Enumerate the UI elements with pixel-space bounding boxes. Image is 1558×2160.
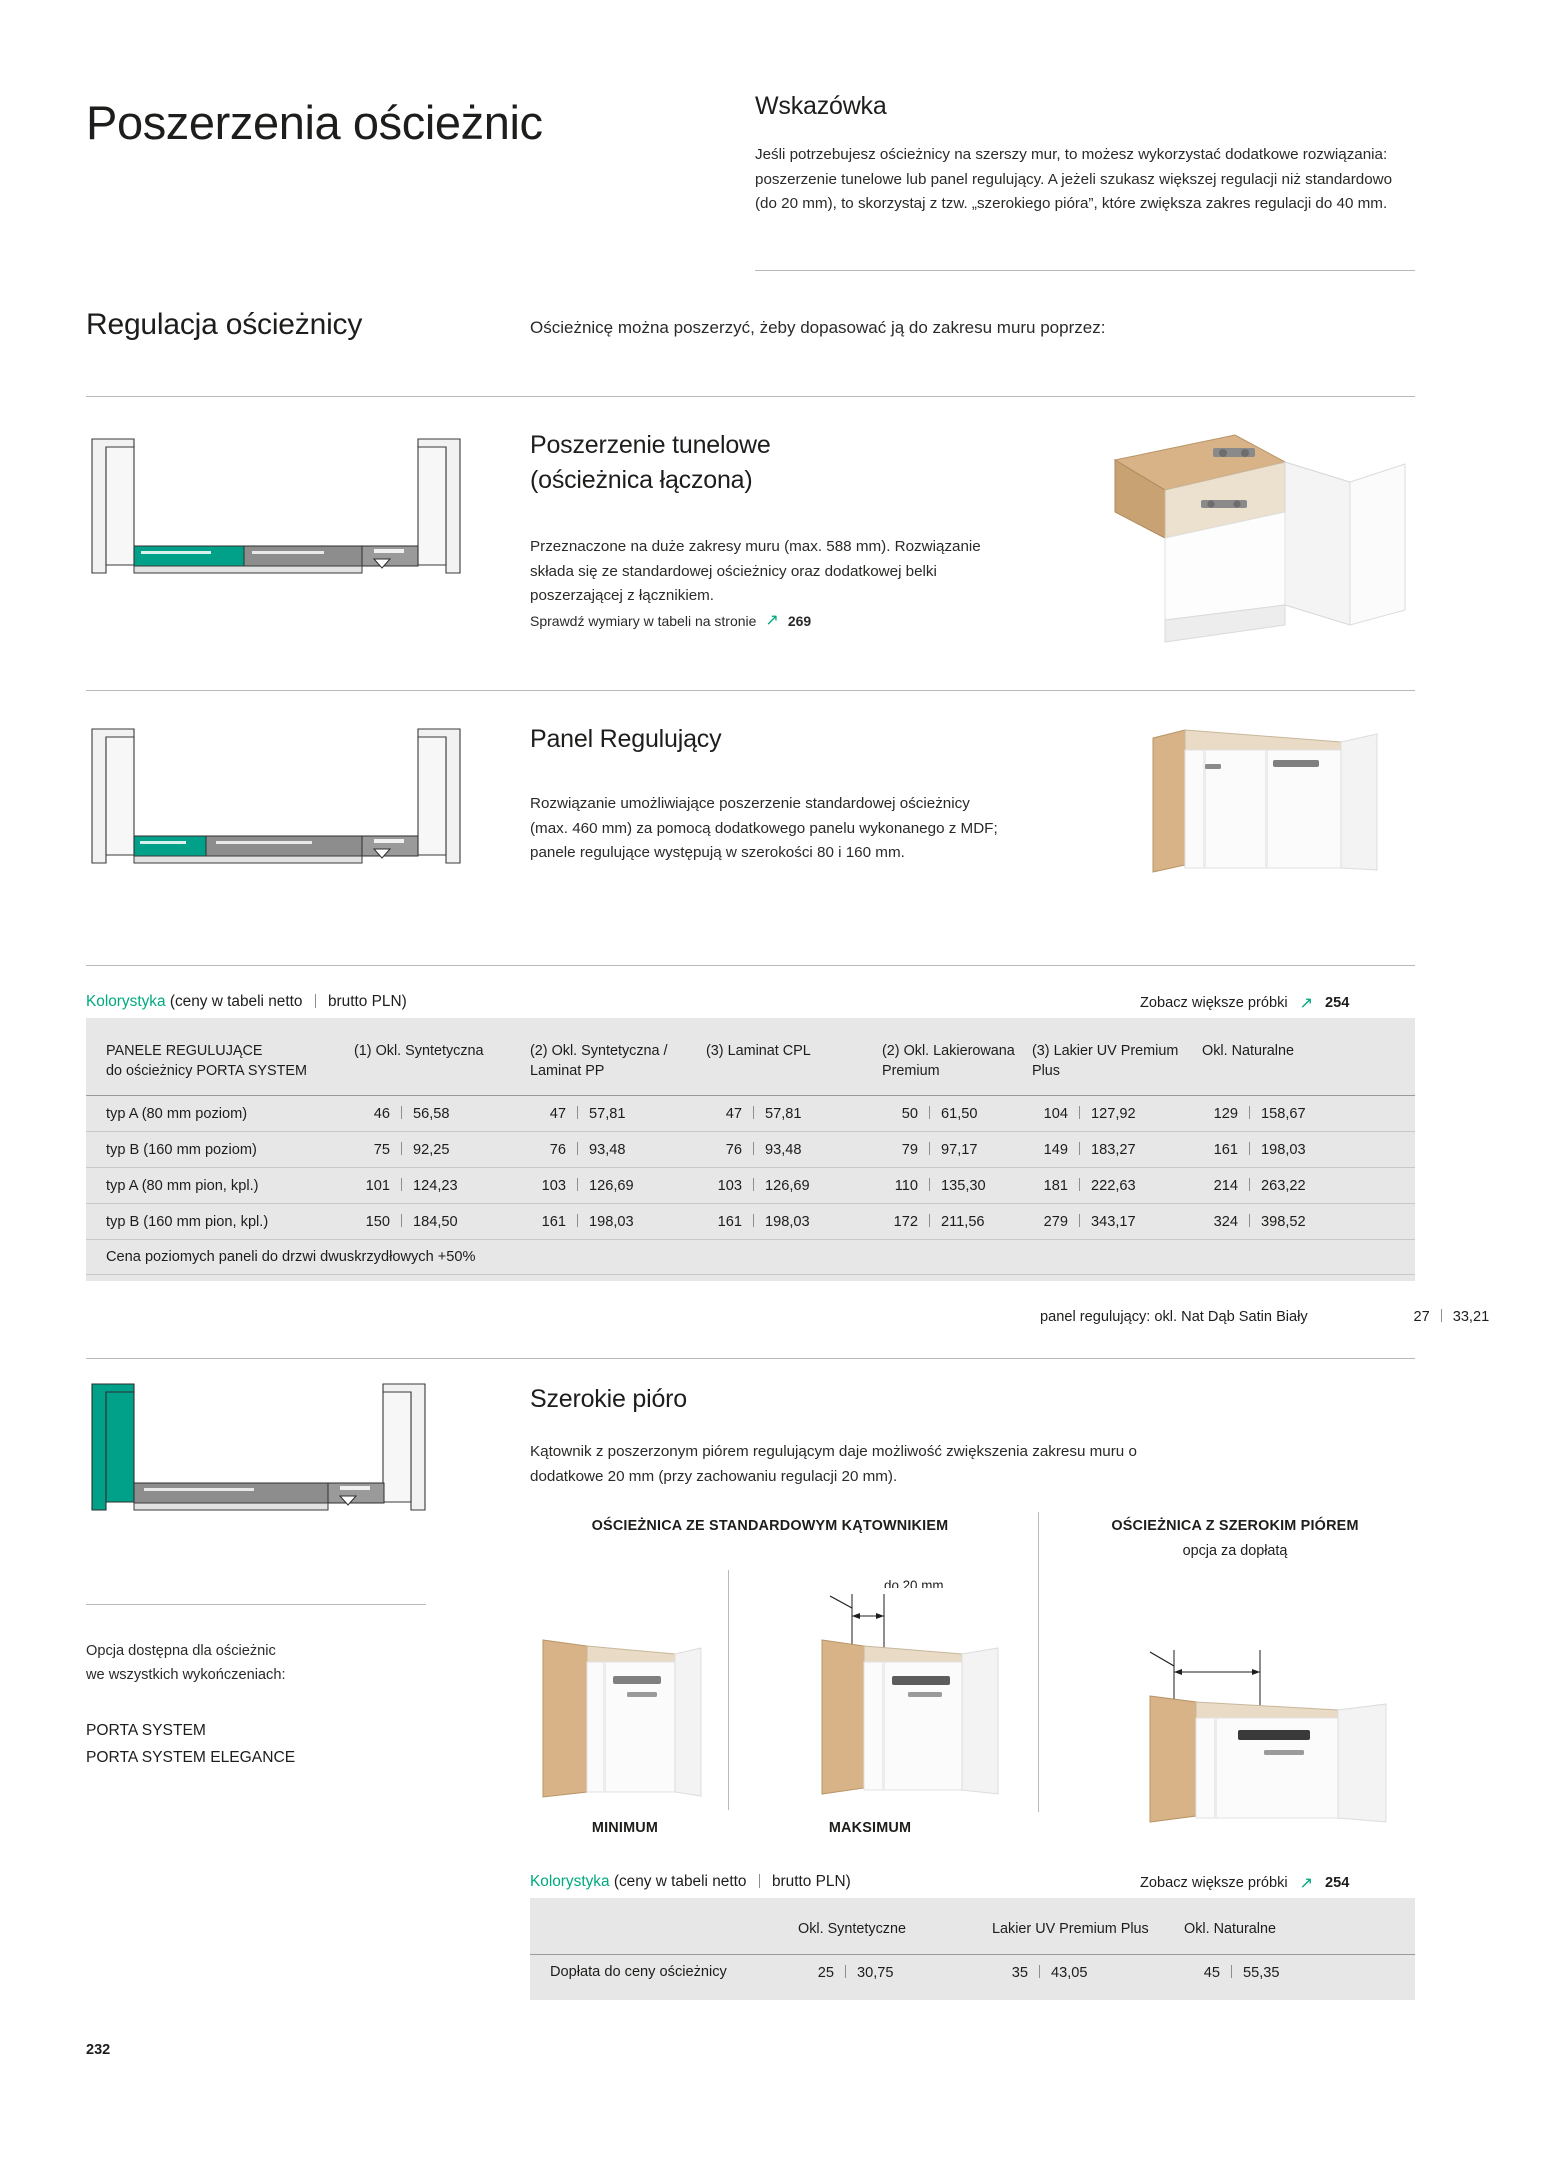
panel-footer-text: panel regulujący: okl. Nat Dąb Satin Bia… <box>1040 1309 1308 1325</box>
feature-ref-text-1: Sprawdź wymiary w tabeli na stronie <box>530 610 756 633</box>
table-note: Cena poziomych paneli do drzwi dwuskrzyd… <box>86 1240 1415 1275</box>
price-cell: 104127,92 <box>1032 1096 1202 1132</box>
feature-title-1: Poszerzenie tunelowe (ościeżnica łączona… <box>530 428 771 497</box>
price-cell: 4757,81 <box>706 1096 882 1132</box>
tip-heading: Wskazówka <box>755 92 1415 121</box>
samples-link-text-2: Zobacz większe próbki <box>1140 1875 1288 1891</box>
price-separator <box>577 1214 578 1227</box>
price-cell: 129158,67 <box>1202 1096 1415 1132</box>
kolorystyka-suffix-2: (ceny w tabeli netto <box>614 1873 747 1890</box>
price-net: 76 <box>706 1142 742 1158</box>
price-net: 35 <box>992 1965 1028 1981</box>
price-cell: 2530,75 <box>798 1954 992 1990</box>
price-gross: 158,67 <box>1261 1106 1311 1122</box>
wide-feather-body: Kątownik z poszerzonym piórem regulujący… <box>530 1440 1210 1489</box>
system-item-1: PORTA SYSTEM ELEGANCE <box>86 1745 426 1772</box>
price-gross: 30,75 <box>857 1965 907 1981</box>
tip-paragraph: Jeśli potrzebujesz ościeżnicy na szerszy… <box>755 143 1415 217</box>
table-header-label: PANELE REGULUJĄCE do ościeżnicy PORTA SY… <box>86 1042 354 1096</box>
arrow-up-right-icon: ↗ <box>765 608 778 634</box>
samples-link-text-1: Zobacz większe próbki <box>1140 995 1288 1011</box>
kolorystyka-suffix2-2: brutto PLN) <box>772 1873 851 1890</box>
feature-ref-1: Sprawdź wymiary w tabeli na stronie ↗ 26… <box>530 608 1000 634</box>
section-heading-regulacja: Regulacja ościeżnicy <box>86 308 362 342</box>
photo-minimum <box>535 1632 710 1802</box>
surcharge-header-col-2: Lakier UV Premium Plus <box>992 1920 1184 1954</box>
divider-between-features <box>86 690 1415 691</box>
tip-box: Wskazówka Jeśli potrzebujesz ościeżnicy … <box>755 92 1415 217</box>
price-separator <box>1079 1178 1080 1191</box>
feature-ref-page-1[interactable]: 269 <box>788 610 811 633</box>
price-gross: 97,17 <box>941 1142 991 1158</box>
page-number: 232 <box>86 2042 110 2058</box>
price-separator <box>753 1106 754 1119</box>
photo-poszerzenie-tunelowe <box>1105 420 1415 660</box>
price-net: 129 <box>1202 1106 1238 1122</box>
row-label: typ B (160 mm poziom) <box>86 1132 354 1168</box>
price-cell: 110135,30 <box>882 1168 1032 1204</box>
kolorystyka-word-2: Kolorystyka <box>530 1873 610 1890</box>
table-note-row: Cena poziomych paneli do drzwi dwuskrzyd… <box>86 1240 1415 1275</box>
price-net: 161 <box>530 1214 566 1230</box>
price-net: 110 <box>882 1178 918 1194</box>
price-separator <box>577 1142 578 1155</box>
divider-top-features <box>86 396 1415 397</box>
wide-feather-title: Szerokie pióro <box>530 1382 687 1417</box>
price-gross: 398,52 <box>1261 1214 1311 1230</box>
price-net: 79 <box>882 1142 918 1158</box>
panel-footer-net: 27 <box>1394 1309 1430 1325</box>
price-cell: 149183,27 <box>1032 1132 1202 1168</box>
price-separator <box>401 1142 402 1155</box>
table-header-col-3: (2) Okl. Lakierowana Premium <box>882 1042 1032 1096</box>
left-note: Opcja dostępna dla ościeżnic we wszystki… <box>86 1640 426 1687</box>
price-separator <box>1249 1178 1250 1191</box>
price-net: 50 <box>882 1106 918 1122</box>
catalog-page: Poszerzenia ościeżnic Wskazówka Jeśli po… <box>0 0 1558 2160</box>
price-net: 46 <box>354 1106 390 1122</box>
row-label: typ A (80 mm poziom) <box>86 1096 354 1132</box>
price-cell: 4757,81 <box>530 1096 706 1132</box>
kolorystyka-label-1: Kolorystyka (ceny w tabeli netto brutto … <box>86 992 407 1011</box>
price-gross: 126,69 <box>589 1178 639 1194</box>
regulacja-lead: Ościeżnicę można poszerzyć, żeby dopasow… <box>530 318 1105 338</box>
feature-title-2: Panel Regulujący <box>530 722 721 757</box>
surcharge-header-col-3: Okl. Naturalne <box>1184 1920 1415 1954</box>
kolorystyka-suffix2-1: brutto PLN) <box>328 993 407 1010</box>
price-separator <box>929 1178 930 1191</box>
price-gross: 55,35 <box>1243 1965 1293 1981</box>
price-separator <box>1249 1142 1250 1155</box>
panel-b-subtitle: opcja za dopłatą <box>1055 1543 1415 1559</box>
price-gross: 126,69 <box>765 1178 815 1194</box>
samples-link-2[interactable]: Zobacz większe próbki ↗ 254 <box>1140 1873 1349 1893</box>
divider-above-kolorystyka-1 <box>86 965 1415 966</box>
samples-link-page-1: 254 <box>1325 995 1349 1011</box>
price-net: 104 <box>1032 1106 1068 1122</box>
feature-body-1: Przeznaczone na duże zakresy muru (max. … <box>530 535 1000 609</box>
price-gross: 211,56 <box>941 1214 991 1230</box>
arrow-up-right-icon: ↗ <box>1300 993 1313 1013</box>
tip-divider <box>755 270 1415 271</box>
price-gross: 198,03 <box>589 1214 639 1230</box>
price-net: 172 <box>882 1214 918 1230</box>
separator <box>315 994 316 1008</box>
price-gross: 124,23 <box>413 1178 463 1194</box>
surcharge-header-col-1: Okl. Syntetyczne <box>798 1920 992 1954</box>
divider-above-szerokie-pioro <box>86 1358 1415 1359</box>
price-net: 324 <box>1202 1214 1238 1230</box>
price-cell: 279343,17 <box>1032 1204 1202 1240</box>
price-net: 75 <box>354 1142 390 1158</box>
surcharge-header-label <box>530 1920 798 1954</box>
panel-footer-line: panel regulujący: okl. Nat Dąb Satin Bia… <box>1040 1308 1503 1325</box>
price-net: 279 <box>1032 1214 1068 1230</box>
price-gross: 93,48 <box>589 1142 639 1158</box>
page-title: Poszerzenia ościeżnic <box>86 92 546 153</box>
price-gross: 61,50 <box>941 1106 991 1122</box>
price-net: 25 <box>798 1965 834 1981</box>
price-gross: 198,03 <box>765 1214 815 1230</box>
price-cell: 7592,25 <box>354 1132 530 1168</box>
table-row: typ A (80 mm pion, kpl.)101124,23103126,… <box>86 1168 1415 1204</box>
row-label: typ B (160 mm pion, kpl.) <box>86 1204 354 1240</box>
photo-szerokie-pioro <box>1138 1610 1418 1830</box>
diagram-szerokie-pioro <box>86 1380 431 1520</box>
price-cell: 7693,48 <box>706 1132 882 1168</box>
price-separator <box>401 1178 402 1191</box>
price-gross: 127,92 <box>1091 1106 1141 1122</box>
price-gross: 93,48 <box>765 1142 815 1158</box>
table-header-col-2: (3) Laminat CPL <box>706 1042 882 1096</box>
price-gross: 198,03 <box>1261 1142 1311 1158</box>
table-row: Dopłata do ceny ościeżnicy2530,753543,05… <box>530 1954 1415 1990</box>
diagram-panel-regulujacy <box>86 725 466 875</box>
samples-link-page-2: 254 <box>1325 1875 1349 1891</box>
price-separator <box>1079 1142 1080 1155</box>
price-separator <box>401 1106 402 1119</box>
price-separator <box>1039 1965 1040 1978</box>
photo-maksimum <box>812 1588 1012 1808</box>
price-separator <box>577 1106 578 1119</box>
price-gross: 43,05 <box>1051 1965 1101 1981</box>
price-separator <box>929 1214 930 1227</box>
price-gross: 92,25 <box>413 1142 463 1158</box>
price-cell: 4656,58 <box>354 1096 530 1132</box>
price-net: 103 <box>706 1178 742 1194</box>
caption-maksimum: MAKSIMUM <box>755 1820 985 1836</box>
separator <box>759 1874 760 1888</box>
price-net: 101 <box>354 1178 390 1194</box>
price-net: 161 <box>706 1214 742 1230</box>
panel-b-title: OŚCIEŻNICA Z SZEROKIM PIÓREM <box>1055 1518 1415 1534</box>
price-net: 47 <box>706 1106 742 1122</box>
price-separator <box>753 1142 754 1155</box>
price-net: 214 <box>1202 1178 1238 1194</box>
price-cell: 172211,56 <box>882 1204 1032 1240</box>
price-net: 45 <box>1184 1965 1220 1981</box>
price-separator <box>1079 1106 1080 1119</box>
table-row: typ B (160 mm poziom)7592,257693,487693,… <box>86 1132 1415 1168</box>
price-net: 149 <box>1032 1142 1068 1158</box>
price-gross: 263,22 <box>1261 1178 1311 1194</box>
price-net: 181 <box>1032 1178 1068 1194</box>
price-separator <box>1079 1214 1080 1227</box>
table-header-col-5: Okl. Naturalne <box>1202 1042 1415 1096</box>
price-cell: 7693,48 <box>530 1132 706 1168</box>
price-cell: 150184,50 <box>354 1204 530 1240</box>
price-separator <box>929 1142 930 1155</box>
vertical-divider-min-max <box>728 1570 729 1810</box>
price-net: 161 <box>1202 1142 1238 1158</box>
price-cell: 103126,69 <box>530 1168 706 1204</box>
price-net: 47 <box>530 1106 566 1122</box>
feature-body-2: Rozwiązanie umożliwiające poszerzenie st… <box>530 792 1000 866</box>
divider-left-note <box>86 1604 426 1605</box>
table-row: typ B (160 mm pion, kpl.)150184,50161198… <box>86 1204 1415 1240</box>
price-cell: 161198,03 <box>706 1204 882 1240</box>
price-cell: 7997,17 <box>882 1132 1032 1168</box>
price-cell: 324398,52 <box>1202 1204 1415 1240</box>
kolorystyka-suffix-1: (ceny w tabeli netto <box>170 993 303 1010</box>
vertical-divider-panels <box>1038 1512 1039 1812</box>
table-header-col-4: (3) Lakier UV Premium Plus <box>1032 1042 1202 1096</box>
table-header-col-0: (1) Okl. Syntetyczna <box>354 1042 530 1096</box>
price-cell: 214263,22 <box>1202 1168 1415 1204</box>
price-gross: 343,17 <box>1091 1214 1141 1230</box>
table-panele-regulujace: PANELE REGULUJĄCE do ościeżnicy PORTA SY… <box>86 1018 1415 1281</box>
price-gross: 184,50 <box>413 1214 463 1230</box>
price-gross: 57,81 <box>589 1106 639 1122</box>
price-separator <box>753 1214 754 1227</box>
kolorystyka-word-1: Kolorystyka <box>86 993 166 1010</box>
kolorystyka-label-2: Kolorystyka (ceny w tabeli netto brutto … <box>530 1872 851 1891</box>
price-separator <box>929 1106 930 1119</box>
panel-a-title: OŚCIEŻNICA ZE STANDARDOWYM KĄTOWNIKIEM <box>530 1518 1010 1534</box>
price-cell: 4555,35 <box>1184 1954 1415 1990</box>
samples-link-1[interactable]: Zobacz większe próbki ↗ 254 <box>1140 993 1349 1013</box>
price-cell: 5061,50 <box>882 1096 1032 1132</box>
table-header-col-1: (2) Okl. Syntetyczna / Laminat PP <box>530 1042 706 1096</box>
systems-list: PORTA SYSTEM PORTA SYSTEM ELEGANCE <box>86 1718 426 1772</box>
page-edge <box>0 0 12 2160</box>
price-separator <box>1249 1214 1250 1227</box>
price-net: 150 <box>354 1214 390 1230</box>
caption-minimum: MINIMUM <box>530 1820 720 1836</box>
price-separator <box>753 1178 754 1191</box>
row-label: typ A (80 mm pion, kpl.) <box>86 1168 354 1204</box>
price-cell: 161198,03 <box>1202 1132 1415 1168</box>
price-gross: 183,27 <box>1091 1142 1141 1158</box>
price-cell: 161198,03 <box>530 1204 706 1240</box>
row-label: Dopłata do ceny ościeżnicy <box>530 1954 798 1990</box>
price-gross: 56,58 <box>413 1106 463 1122</box>
price-cell: 181222,63 <box>1032 1168 1202 1204</box>
table-row: typ A (80 mm poziom)4656,584757,814757,8… <box>86 1096 1415 1132</box>
system-item-0: PORTA SYSTEM <box>86 1718 426 1745</box>
price-net: 76 <box>530 1142 566 1158</box>
price-gross: 222,63 <box>1091 1178 1141 1194</box>
price-separator <box>401 1214 402 1227</box>
price-cell: 3543,05 <box>992 1954 1184 1990</box>
price-gross: 135,30 <box>941 1178 991 1194</box>
table-doplata: Okl. Syntetyczne Lakier UV Premium Plus … <box>530 1898 1415 2000</box>
price-gross: 57,81 <box>765 1106 815 1122</box>
table-header-row: PANELE REGULUJĄCE do ościeżnicy PORTA SY… <box>86 1042 1415 1096</box>
price-cell: 101124,23 <box>354 1168 530 1204</box>
price-net: 103 <box>530 1178 566 1194</box>
price-separator <box>1249 1106 1250 1119</box>
price-separator <box>845 1965 846 1978</box>
arrow-up-right-icon: ↗ <box>1300 1873 1313 1893</box>
surcharge-header-row: Okl. Syntetyczne Lakier UV Premium Plus … <box>530 1920 1415 1954</box>
price-separator <box>577 1178 578 1191</box>
price-cell: 103126,69 <box>706 1168 882 1204</box>
price-separator <box>1231 1965 1232 1978</box>
panel-footer-gross: 33,21 <box>1453 1309 1503 1325</box>
photo-panel-regulujacy <box>1145 720 1415 890</box>
diagram-poszerzenie-tunelowe <box>86 435 466 585</box>
